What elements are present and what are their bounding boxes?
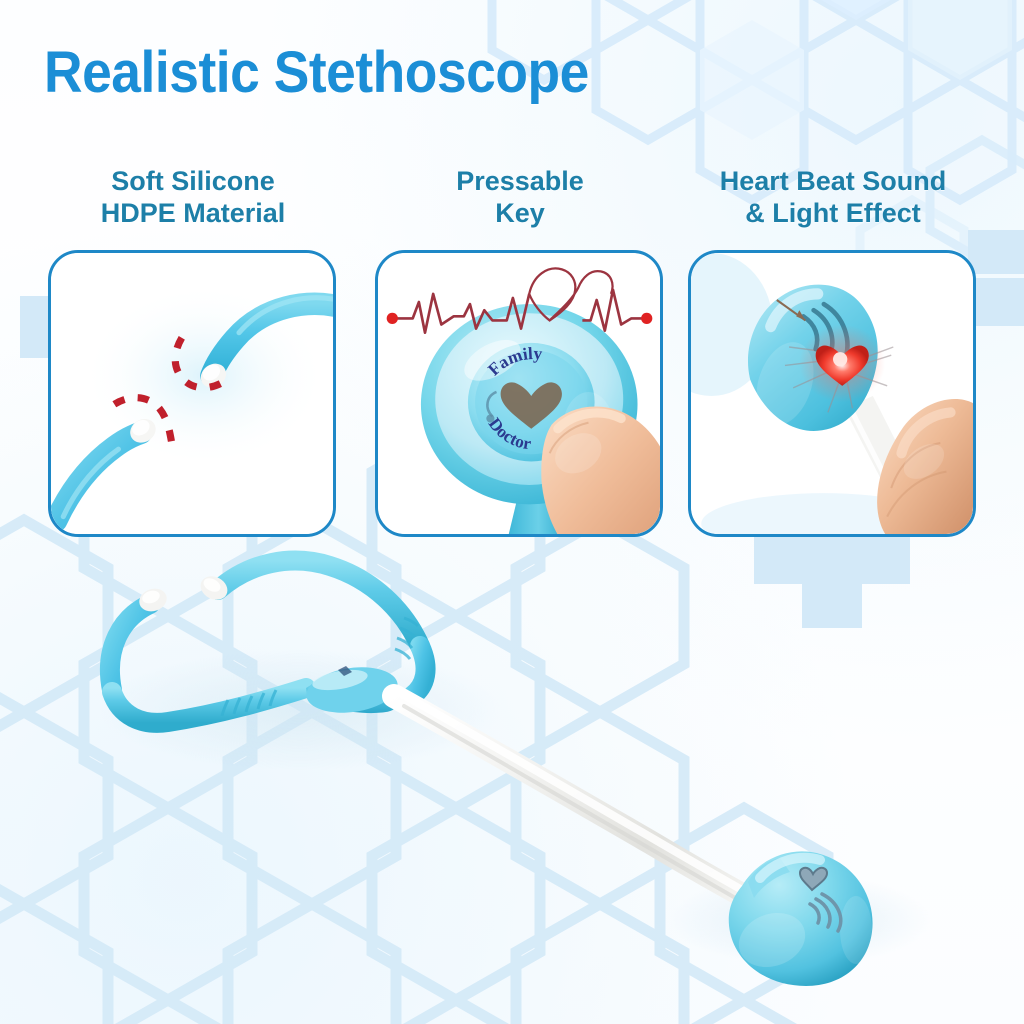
- soft-silicone-illustration: [51, 253, 333, 534]
- pressable-key-illustration: Family Doctor: [378, 253, 660, 534]
- feature-caption-soft-silicone: Soft Silicone HDPE Material: [48, 166, 338, 230]
- caption-line-1: Soft Silicone: [48, 166, 338, 198]
- caption-line-1: Pressable: [375, 166, 665, 198]
- heart-beat-sound-light-illustration: [691, 253, 973, 534]
- caption-line-2: & Light Effect: [688, 198, 978, 230]
- caption-line-2: HDPE Material: [48, 198, 338, 230]
- infographic-canvas: Realistic Stethoscope Soft Silicone HDPE…: [0, 0, 1024, 1024]
- stethoscope-illustration: [0, 500, 1024, 1024]
- ear-tube-right: [218, 561, 420, 646]
- panel-pressable-key: Family Doctor: [375, 250, 663, 537]
- panel-soft-silicone: [48, 250, 336, 537]
- chest-piece-hero: [729, 851, 873, 986]
- panel-heart-beat-sound-light: [688, 250, 976, 537]
- caption-line-2: Key: [375, 198, 665, 230]
- feature-caption-pressable-key: Pressable Key: [375, 166, 665, 230]
- page-title: Realistic Stethoscope: [44, 44, 589, 102]
- caption-line-1: Heart Beat Sound: [688, 166, 978, 198]
- ecg-dot-right: [641, 313, 652, 324]
- white-tube: [394, 696, 762, 906]
- deco-block-right-top: [968, 230, 1024, 274]
- feature-caption-heart-beat-sound-light: Heart Beat Sound & Light Effect: [688, 166, 978, 230]
- deco-block-right-mid: [976, 278, 1024, 326]
- product-photo-stethoscope: [0, 500, 1024, 1024]
- ecg-dot-left: [387, 313, 398, 324]
